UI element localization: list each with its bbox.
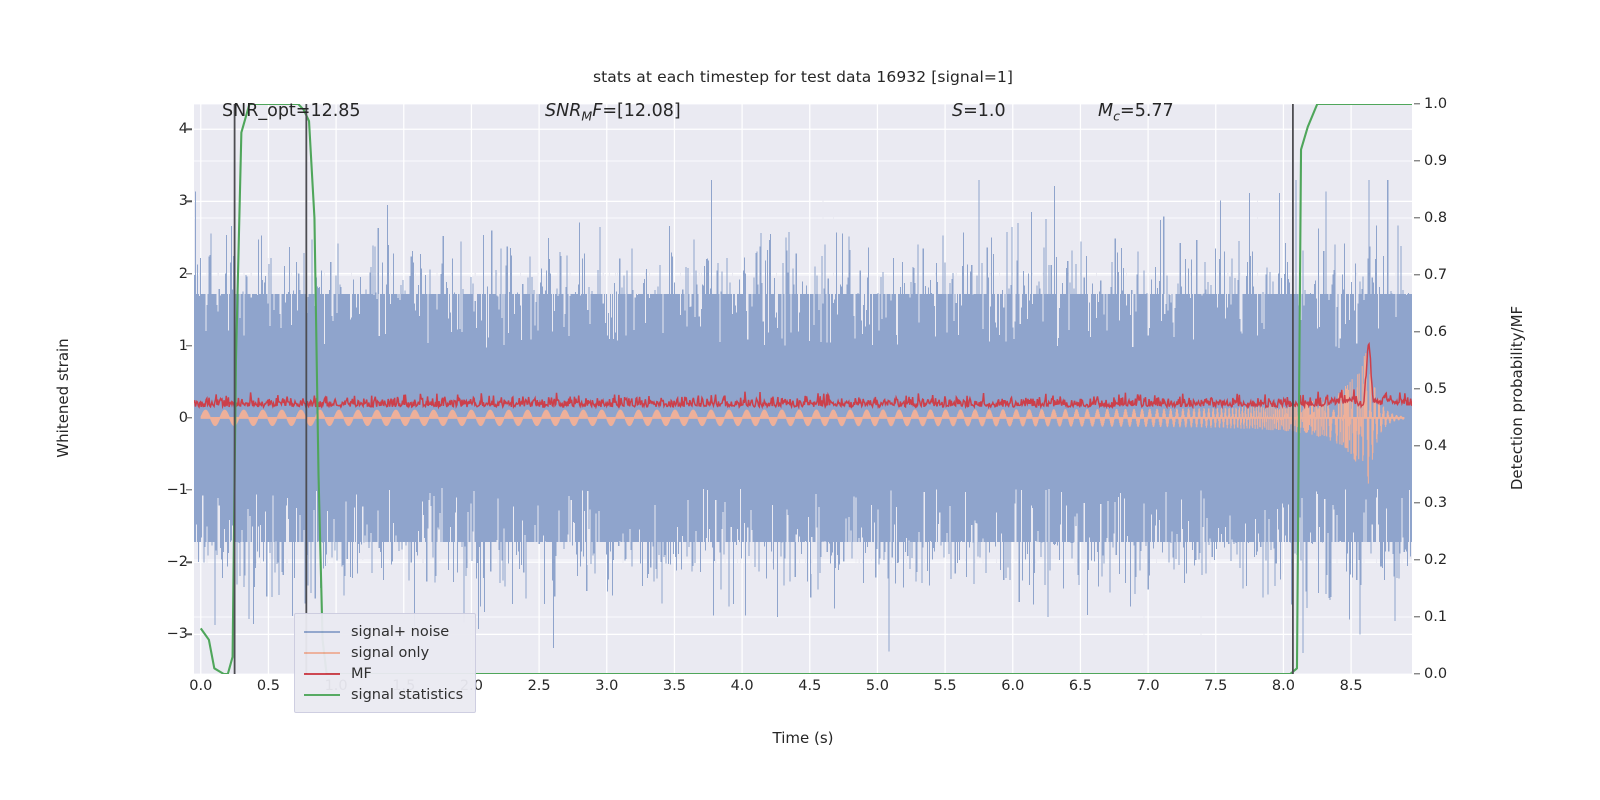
legend-item[interactable]: MF: [304, 663, 463, 684]
y-tick-label-left: −3: [167, 626, 188, 642]
y-tick-mark-left: [186, 634, 192, 635]
x-tick-label: 6.0: [1001, 678, 1024, 694]
y-tick-mark-right: [1414, 388, 1420, 389]
annotation-chirp-mass: Mc=5.77: [1098, 101, 1174, 124]
vline-layer: [194, 104, 1412, 674]
y-tick-label-right: 0.8: [1424, 210, 1447, 226]
y-tick-mark-left: [186, 561, 192, 562]
y-tick-label-right: 0.6: [1424, 324, 1447, 340]
x-tick-label: 8.0: [1272, 678, 1295, 694]
x-tick-label: 4.5: [798, 678, 821, 694]
legend-swatch-icon: [304, 694, 340, 696]
y-tick-mark-left: [186, 129, 192, 130]
y-tick-mark-left: [186, 201, 192, 202]
y-tick-mark-right: [1414, 445, 1420, 446]
x-tick-label: 7.0: [1137, 678, 1160, 694]
annotation-snr-mf: SNRMF=[12.08]: [545, 101, 681, 124]
chart-legend[interactable]: signal+ noisesignal onlyMFsignal statist…: [294, 613, 476, 713]
legend-item[interactable]: signal+ noise: [304, 621, 463, 642]
annotation-s-value: S=1.0: [952, 101, 1006, 121]
page-title: stats at each timestep for test data 169…: [194, 68, 1412, 86]
x-tick-label: 2.5: [528, 678, 551, 694]
legend-item[interactable]: signal statistics: [304, 684, 463, 705]
y-tick-mark-right: [1414, 217, 1420, 218]
legend-label: signal+ noise: [351, 624, 449, 640]
plot-area: [194, 104, 1412, 674]
y-tick-label-right: 0.3: [1424, 495, 1447, 511]
annotation-snr-opt: SNR_opt=12.85: [222, 101, 361, 121]
legend-label: signal only: [351, 645, 429, 661]
x-tick-label: 5.0: [866, 678, 889, 694]
y-axis-label-left: Whitened strain: [54, 283, 72, 513]
y-tick-mark-right: [1414, 559, 1420, 560]
matplotlib-figure: stats at each timestep for test data 169…: [0, 0, 1600, 800]
x-tick-label: 3.5: [663, 678, 686, 694]
y-tick-label-right: 0.5: [1424, 381, 1447, 397]
legend-swatch-icon: [304, 631, 340, 633]
legend-label: MF: [351, 666, 372, 682]
legend-item[interactable]: signal only: [304, 642, 463, 663]
y-tick-label-right: 1.0: [1424, 96, 1447, 112]
y-tick-mark-right: [1414, 331, 1420, 332]
y-tick-label-left: −2: [167, 554, 188, 570]
y-tick-mark-right: [1414, 673, 1420, 674]
x-axis-label: Time (s): [194, 729, 1412, 747]
y-tick-mark-left: [186, 489, 192, 490]
x-tick-label: 0.0: [189, 678, 212, 694]
x-tick-label: 6.5: [1069, 678, 1092, 694]
y-tick-mark-right: [1414, 160, 1420, 161]
legend-swatch-icon: [304, 652, 340, 654]
y-axis-label-right: Detection probability/MF: [1508, 253, 1526, 543]
x-tick-label: 5.5: [934, 678, 957, 694]
y-tick-mark-left: [186, 273, 192, 274]
x-tick-label: 3.0: [595, 678, 618, 694]
y-tick-mark-right: [1414, 103, 1420, 104]
y-tick-mark-right: [1414, 274, 1420, 275]
y-tick-label-right: 0.9: [1424, 153, 1447, 169]
y-tick-mark-left: [186, 417, 192, 418]
y-tick-mark-right: [1414, 616, 1420, 617]
x-tick-label: 7.5: [1204, 678, 1227, 694]
y-tick-label-right: 0.1: [1424, 609, 1447, 625]
x-tick-label: 8.5: [1340, 678, 1363, 694]
legend-swatch-icon: [304, 673, 340, 675]
y-tick-label-right: 0.2: [1424, 552, 1447, 568]
y-tick-label-right: 0.7: [1424, 267, 1447, 283]
x-tick-label: 4.0: [731, 678, 754, 694]
x-tick-label: 0.5: [257, 678, 280, 694]
y-tick-mark-right: [1414, 502, 1420, 503]
legend-label: signal statistics: [351, 687, 463, 703]
y-tick-mark-left: [186, 345, 192, 346]
y-tick-label-right: 0.0: [1424, 666, 1447, 682]
y-tick-label-left: −1: [167, 482, 188, 498]
y-tick-label-right: 0.4: [1424, 438, 1447, 454]
